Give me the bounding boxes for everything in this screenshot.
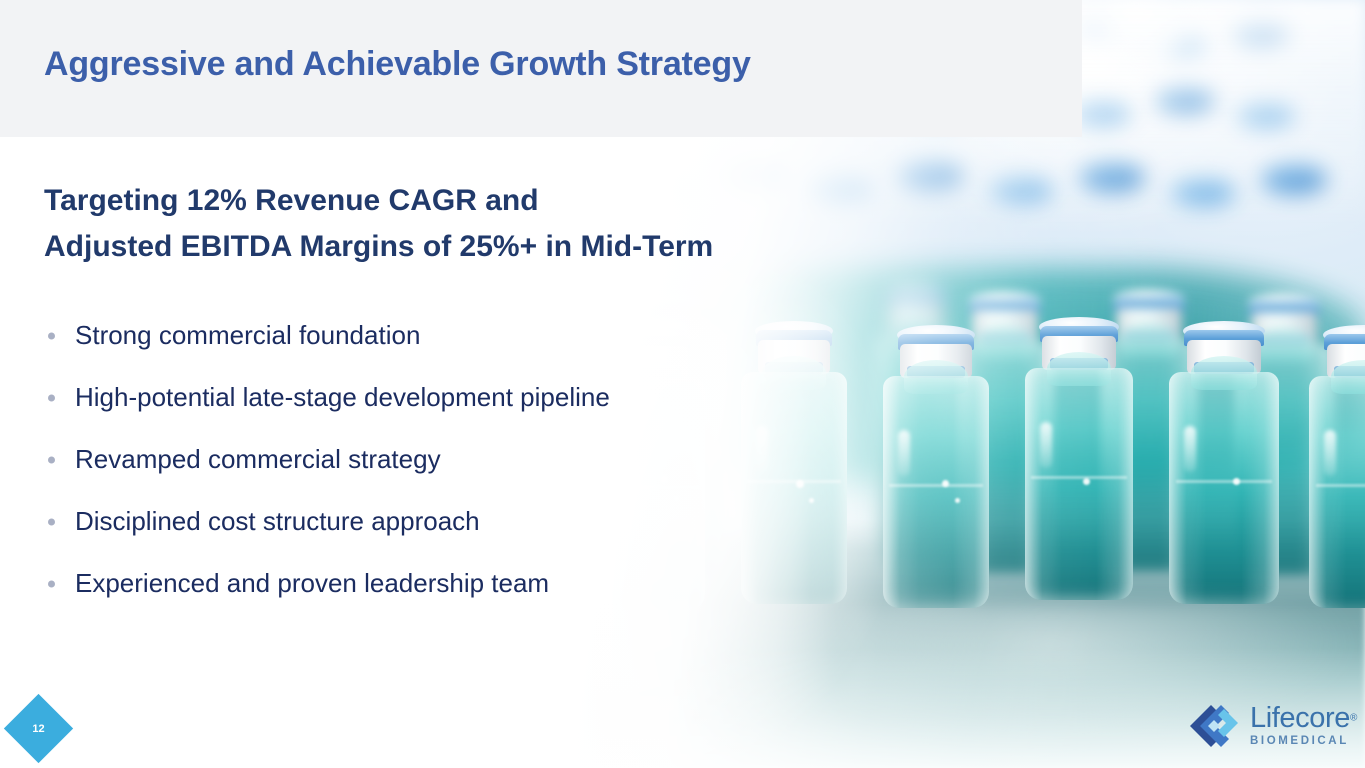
bullet-dot-icon — [48, 581, 55, 588]
bullet-label: Disciplined cost structure approach — [75, 506, 480, 537]
page-title: Aggressive and Achievable Growth Strateg… — [44, 45, 751, 84]
lifecore-diamond-icon — [1188, 703, 1240, 749]
logo-name: Lifecore — [1250, 704, 1350, 733]
page-number-label: 12 — [14, 704, 63, 753]
bullet-dot-icon — [48, 457, 55, 464]
list-item: Revamped commercial strategy — [44, 429, 784, 491]
lifecore-logo: Lifecore® BIOMEDICAL — [1188, 703, 1357, 749]
registered-trademark-icon: ® — [1350, 713, 1357, 724]
bullet-list: Strong commercial foundation High-potent… — [44, 305, 784, 615]
bullet-dot-icon — [48, 519, 55, 526]
lifecore-wordmark: Lifecore® BIOMEDICAL — [1250, 704, 1357, 748]
list-item: High-potential late-stage development pi… — [44, 367, 784, 429]
list-item: Strong commercial foundation — [44, 305, 784, 367]
bullet-label: Strong commercial foundation — [75, 320, 420, 351]
bullet-label: Experienced and proven leadership team — [75, 568, 549, 599]
page-number-badge: 12 — [4, 694, 73, 763]
bullet-label: Revamped commercial strategy — [75, 444, 441, 475]
logo-name-row: Lifecore® — [1250, 704, 1357, 733]
bullet-dot-icon — [48, 333, 55, 340]
logo-subtitle: BIOMEDICAL — [1250, 736, 1357, 748]
slide: Aggressive and Achievable Growth Strateg… — [0, 0, 1365, 768]
bullet-dot-icon — [48, 395, 55, 402]
slide-subtitle: Targeting 12% Revenue CAGR and Adjusted … — [44, 178, 713, 270]
list-item: Experienced and proven leadership team — [44, 553, 784, 615]
bullet-label: High-potential late-stage development pi… — [75, 382, 610, 413]
list-item: Disciplined cost structure approach — [44, 491, 784, 553]
